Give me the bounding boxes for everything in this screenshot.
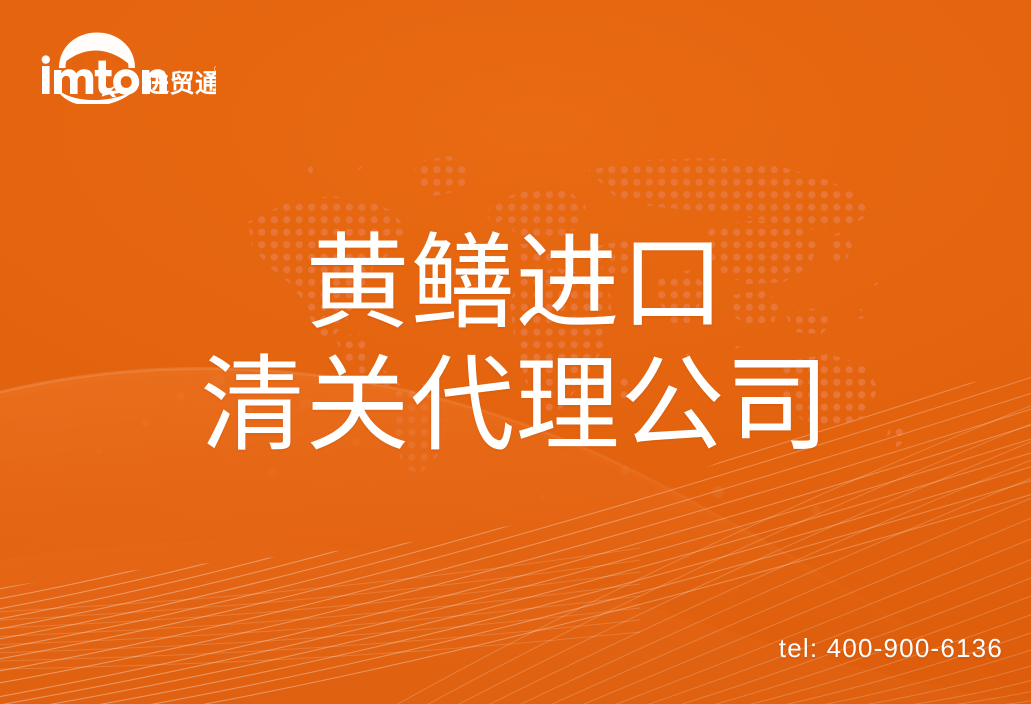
contact-phone[interactable]: tel: 400-900-6136 bbox=[779, 633, 1003, 664]
headline-line-1: 黄鳝进口 bbox=[0, 232, 1031, 336]
brand-logo[interactable]: 进贸通 ® bbox=[36, 26, 216, 104]
headline: 黄鳝进口 清关代理公司 bbox=[0, 232, 1031, 458]
svg-text:进贸通: 进贸通 bbox=[144, 69, 216, 98]
svg-text:®: ® bbox=[213, 65, 216, 75]
promo-banner: 进贸通 ® 黄鳝进口 清关代理公司 tel: 400-900-6136 bbox=[0, 0, 1031, 704]
headline-line-2: 清关代理公司 bbox=[0, 354, 1031, 458]
